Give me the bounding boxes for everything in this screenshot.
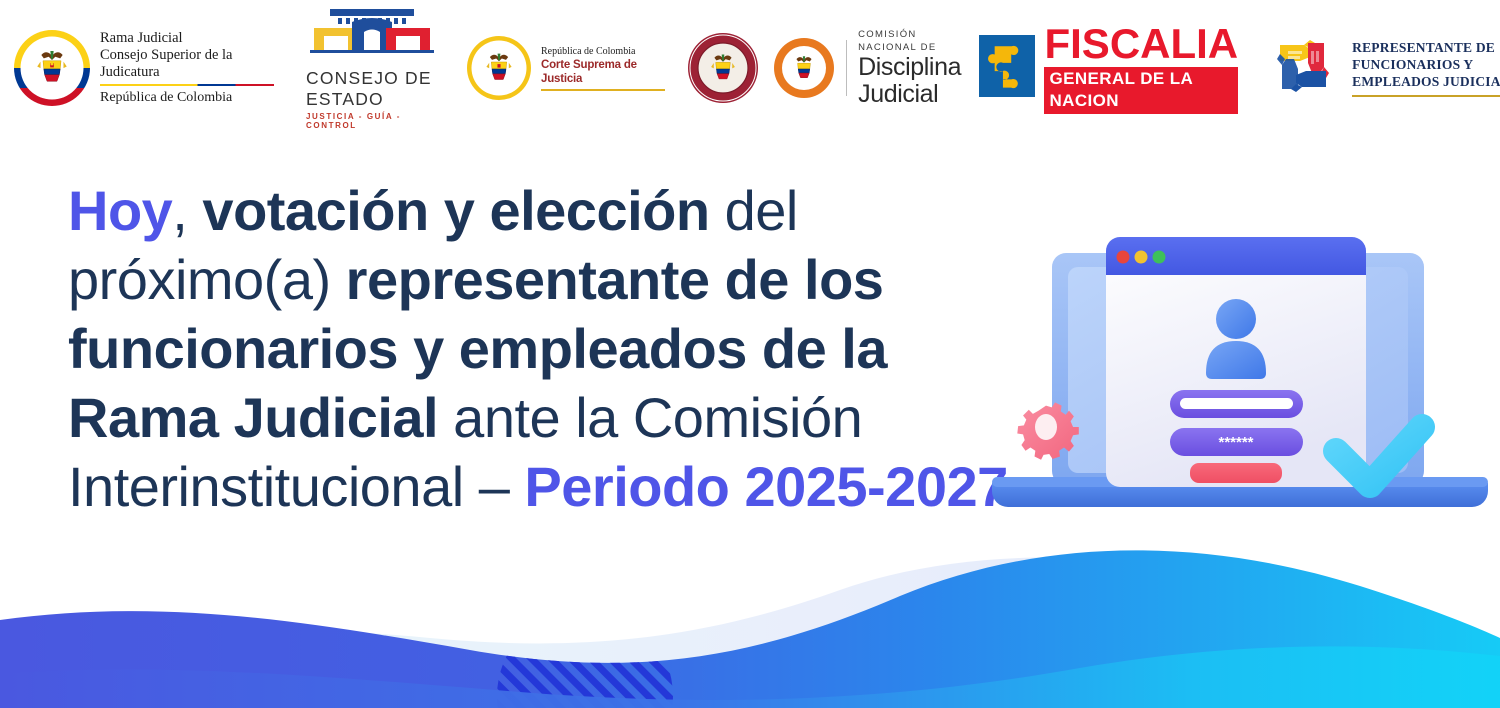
logo-rama-judicial-text: Rama Judicial Consejo Superior de la Jud… [100, 30, 274, 107]
logo-line-3: Judicial [858, 81, 961, 108]
username-field [1170, 390, 1303, 418]
logo-disciplina-judicial-text: COMISIÓN NACIONAL DE Disciplina Judicial [858, 28, 961, 108]
logo-line-1: COMISIÓN NACIONAL DE [858, 28, 961, 54]
logo-tricolor-rule [100, 84, 274, 87]
logo-consejo-estado-name: CONSEJO DE ESTADO [306, 68, 438, 110]
logo-line-1: Rama Judicial [100, 30, 274, 47]
four-hands-icon [1264, 27, 1342, 110]
logo-fiscalia-text: FISCALIA GENERAL DE LA NACION [1044, 23, 1238, 114]
headline-accent-periodo: Periodo 2025-2027. [524, 455, 1022, 518]
decorative-wave-footer [0, 528, 1500, 708]
logo-fiscalia-subtitle: GENERAL DE LA NACION [1044, 67, 1238, 114]
password-masked-value: ****** [1218, 434, 1253, 451]
colombia-coat-of-arms-icon [466, 35, 532, 101]
headline-sep-1: , [172, 179, 202, 242]
password-field: ****** [1170, 428, 1303, 456]
logo-line-2: Consejo Superior de la Judicatura [100, 47, 274, 81]
logo-representante-text: REPRESENTANTE DE FUNCIONARIOS Y EMPLEADO… [1352, 39, 1500, 97]
logo-consejo-estado-tagline: JUSTICIA - GUÍA - CONTROL [306, 112, 438, 130]
disciplina-judicial-seal-icon [773, 37, 835, 99]
logo-line-2: FUNCIONARIOS Y [1352, 56, 1500, 73]
logo-disciplina-judicial: COMISIÓN NACIONAL DE Disciplina Judicial [773, 24, 961, 112]
consejo-de-estado-building-icon [306, 6, 438, 67]
logo-gold-rule [1352, 95, 1500, 97]
election-announcement-banner: Rama Judicial Consejo Superior de la Jud… [0, 0, 1500, 708]
page-title: Hoy, votación y elección del próximo(a) … [68, 176, 1028, 521]
logo-rama-judicial: Rama Judicial Consejo Superior de la Jud… [14, 24, 274, 112]
logo-representante: REPRESENTANTE DE FUNCIONARIOS Y EMPLEADO… [1264, 24, 1500, 112]
logo-line-3: EMPLEADOS JUDICIALES [1352, 73, 1500, 90]
window-dot-yellow [1135, 251, 1148, 264]
logo-line-1: República de Colombia [541, 45, 665, 58]
logo-corte-constitucional [687, 24, 759, 112]
fiscalia-puzzle-icon [979, 35, 1035, 102]
window-dot-green [1153, 251, 1166, 264]
corte-constitucional-seal-icon [687, 32, 759, 104]
logo-corte-suprema-text: República de Colombia Corte Suprema de J… [541, 45, 665, 92]
login-illustration: ****** [990, 215, 1490, 515]
logo-corte-suprema: República de Colombia Corte Suprema de J… [466, 24, 665, 112]
window-dot-red [1117, 251, 1130, 264]
colombia-coat-of-arms-icon [14, 30, 90, 106]
headline-accent-hoy: Hoy [68, 179, 172, 242]
logo-line-2: Disciplina [858, 54, 961, 81]
headline-bold-votacion: votación y elección [202, 179, 709, 242]
institution-logo-bar: Rama Judicial Consejo Superior de la Jud… [0, 22, 1500, 114]
logo-line-1: REPRESENTANTE DE [1352, 39, 1500, 56]
logo-consejo-de-estado: CONSEJO DE ESTADO JUSTICIA - GUÍA - CONT… [306, 24, 438, 112]
logo-line-2: Corte Suprema de Justicia [541, 58, 665, 86]
logo-fiscalia-title: FISCALIA [1044, 23, 1238, 65]
logo-divider [846, 40, 847, 96]
logo-line-3: República de Colombia [100, 89, 274, 106]
logo-fiscalia: FISCALIA GENERAL DE LA NACION [979, 24, 1238, 112]
logo-gold-rule [541, 89, 665, 92]
submit-button [1190, 463, 1282, 483]
